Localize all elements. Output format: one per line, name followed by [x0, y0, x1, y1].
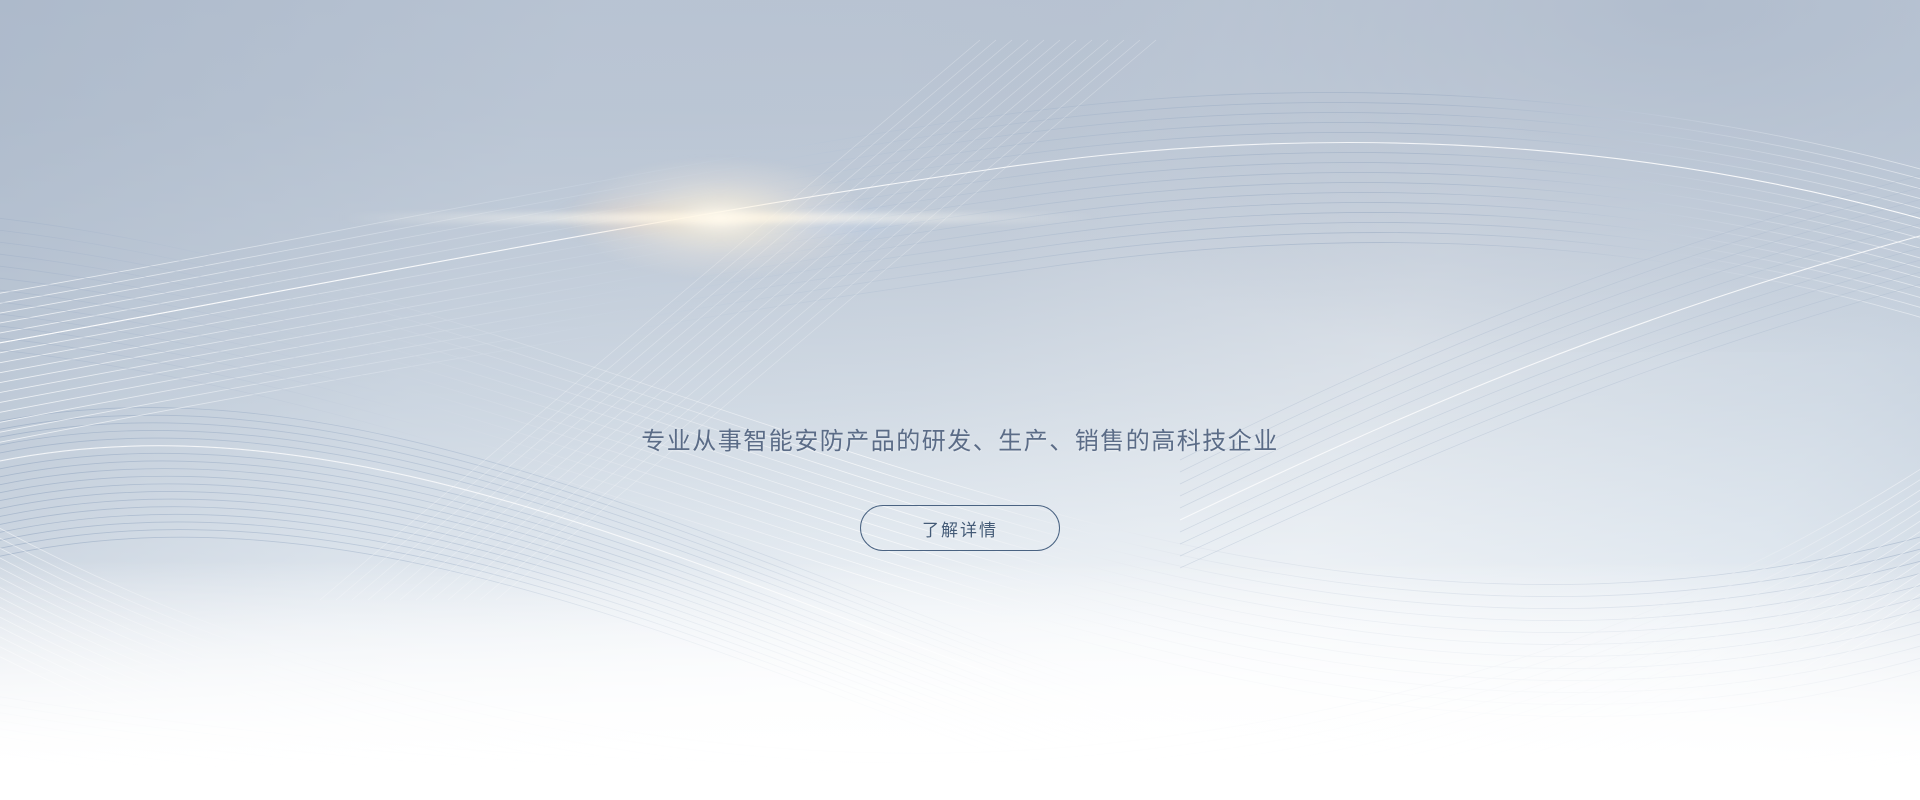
learn-more-button[interactable]: 了解详情	[860, 505, 1060, 551]
cta-container: 了解详情	[0, 505, 1920, 551]
banner-subtitle: 专业从事智能安防产品的研发、生产、销售的高科技企业	[0, 424, 1920, 460]
hero-banner: 以智能视觉处理技术为核心 专业从事智能安防产品的研发、生产、销售的高科技企业 了…	[0, 0, 1920, 800]
page-title: 以智能视觉处理技术为核心	[0, 312, 1920, 402]
bottom-white-fade	[0, 560, 1920, 800]
